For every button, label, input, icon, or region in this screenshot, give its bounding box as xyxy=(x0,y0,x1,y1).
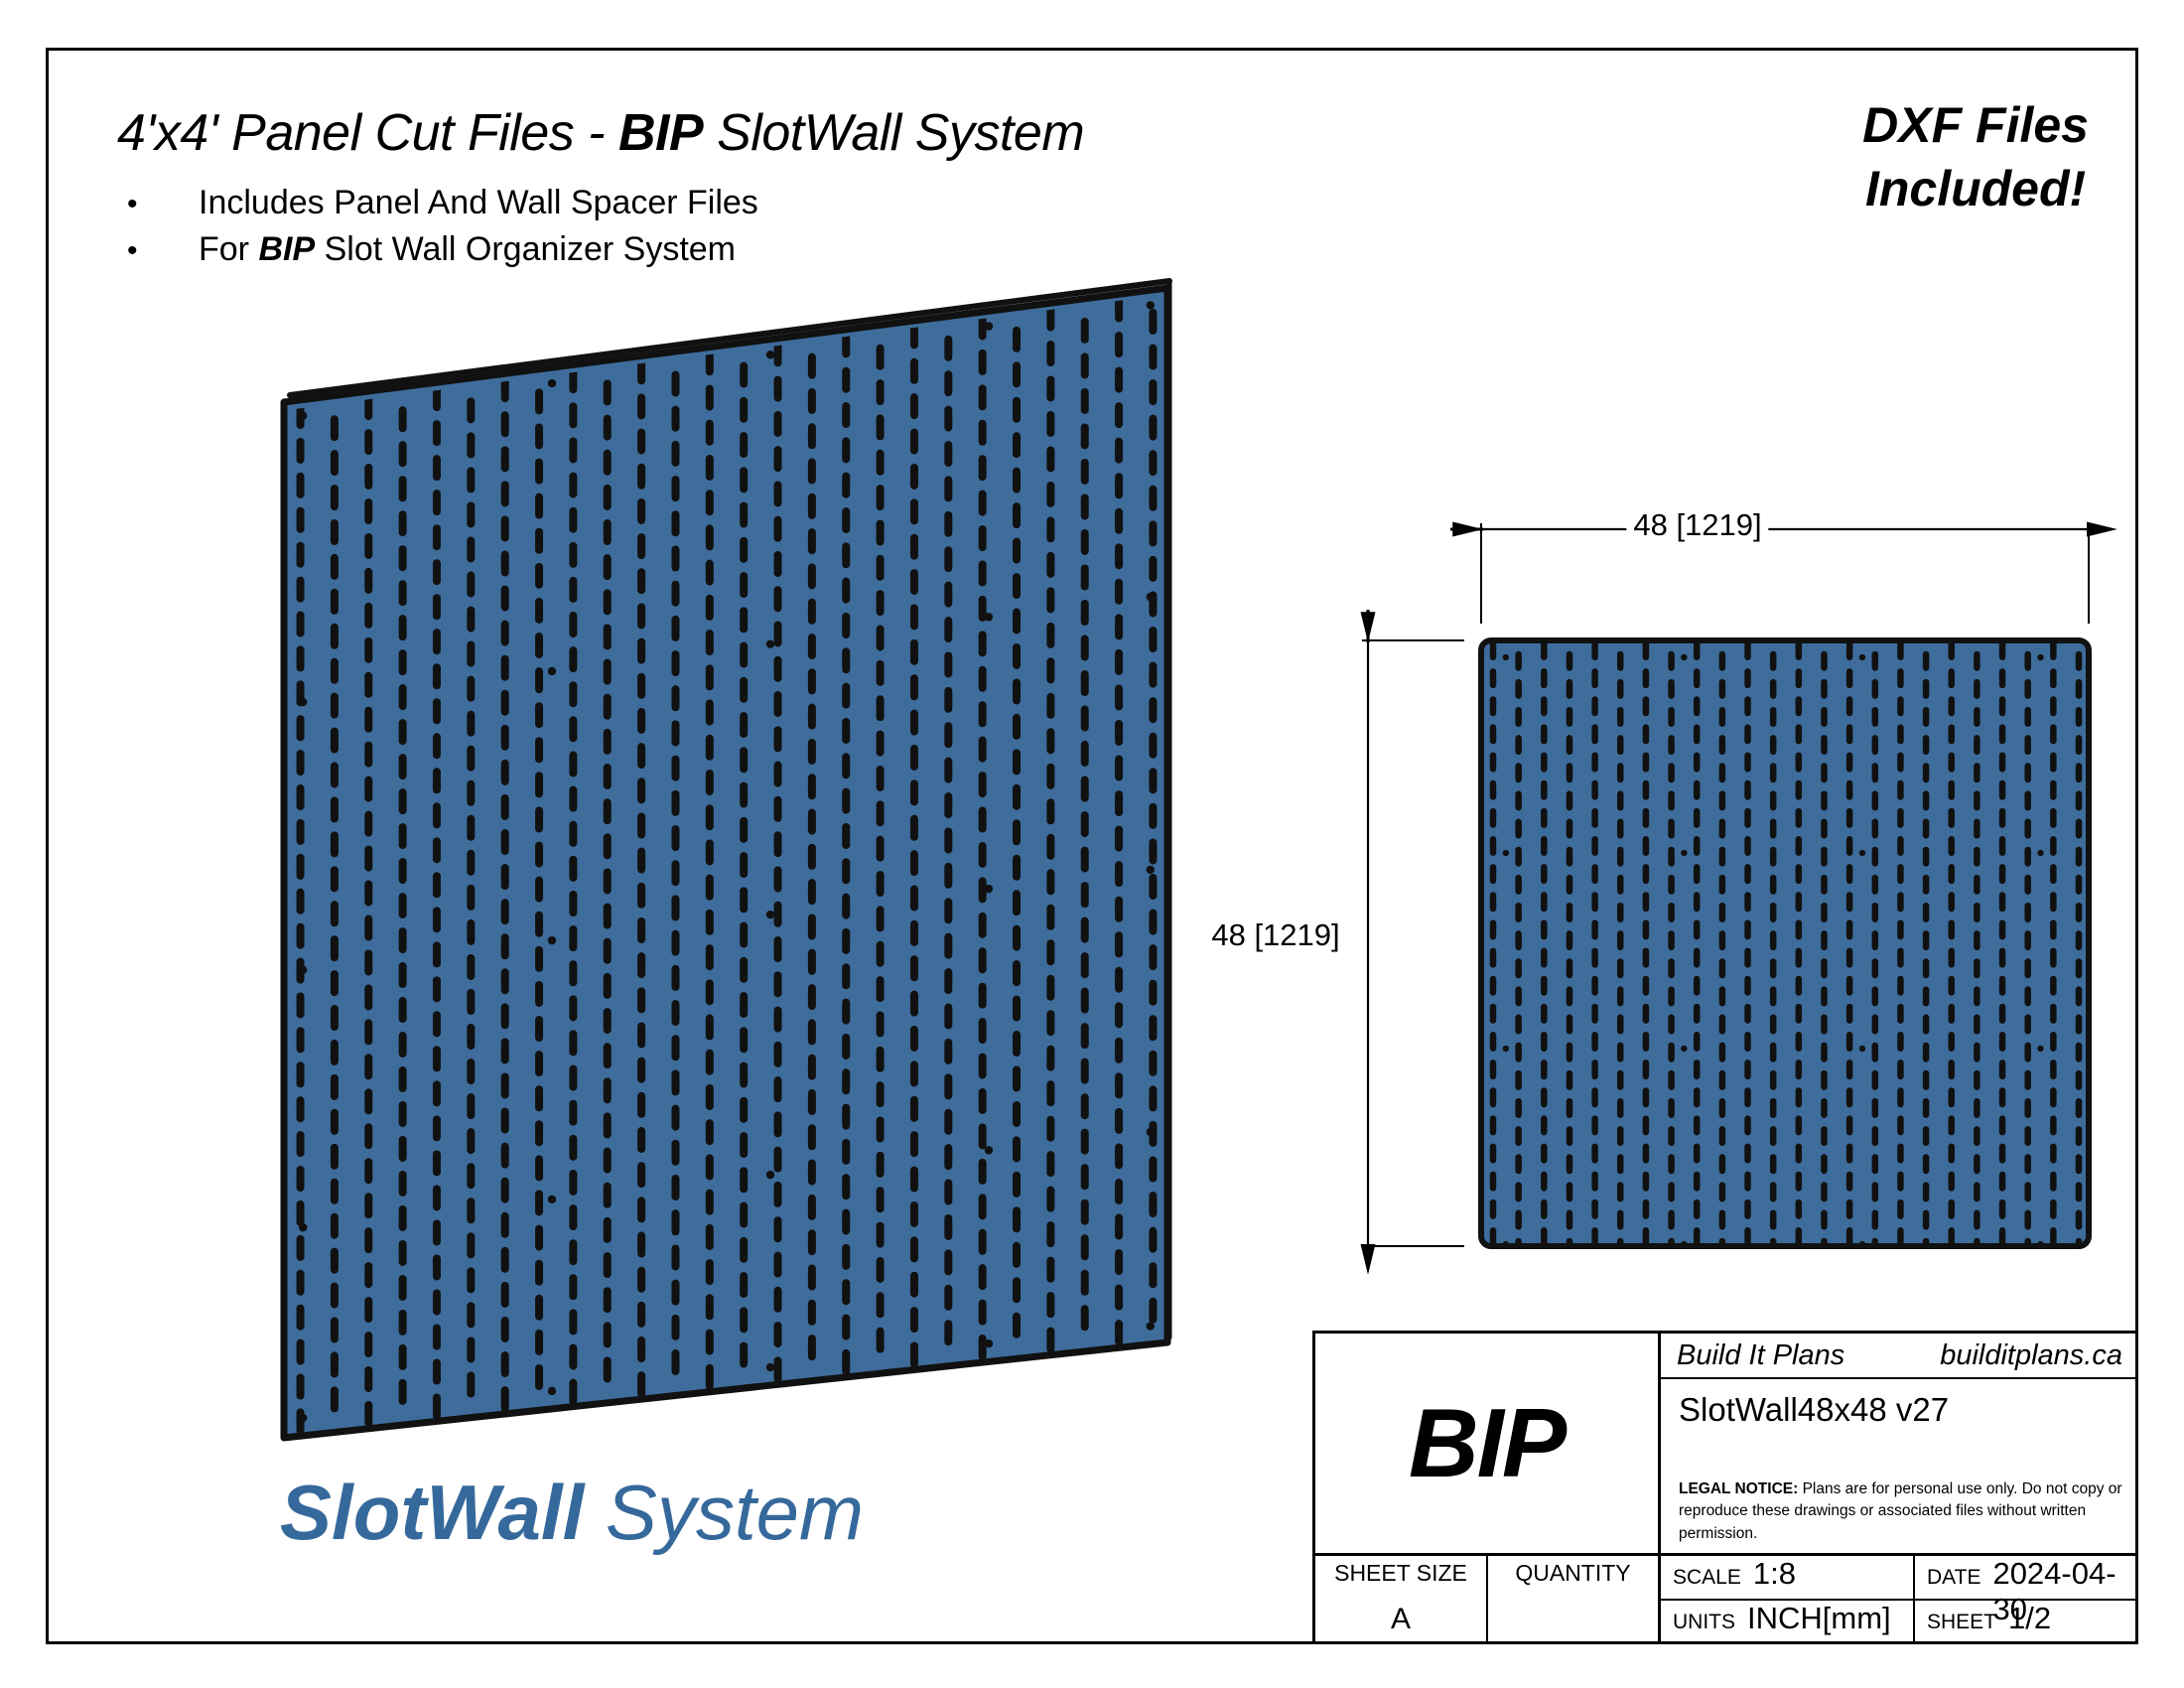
units-label: UNITS xyxy=(1673,1611,1735,1634)
sheet-size-label: SHEET SIZE xyxy=(1334,1560,1467,1587)
quantity-label: QUANTITY xyxy=(1515,1560,1630,1587)
logo-regular-part: System xyxy=(584,1469,864,1556)
sheet-label: SHEET xyxy=(1927,1611,1996,1634)
drawing-sheet: 4'x4' Panel Cut Files - BIP SlotWall Sys… xyxy=(0,0,2184,1688)
list-item-label: For BIP Slot Wall Organizer System xyxy=(199,230,736,269)
scale-label: SCALE xyxy=(1673,1566,1741,1590)
page-title-brand: BIP xyxy=(618,104,703,162)
bip-logo: BIP xyxy=(1409,1387,1565,1499)
title-block-company-cell: Build It Plans builditplans.ca xyxy=(1661,1334,2138,1379)
part-name: SlotWall48x48 v27 xyxy=(1679,1391,2120,1429)
units-cell: UNITS INCH[mm] xyxy=(1661,1601,1915,1644)
date-cell: DATE 2024-04-30 xyxy=(1915,1556,2138,1601)
units-value: INCH[mm] xyxy=(1747,1601,1891,1636)
promo-banner: DXF Files Included! xyxy=(1862,93,2089,220)
dimension-width-label: 48 [1219] xyxy=(1626,507,1768,543)
list-item: • Includes Panel And Wall Spacer Files xyxy=(127,184,1219,222)
quantity-cell: QUANTITY xyxy=(1488,1556,1661,1644)
date-label: DATE xyxy=(1927,1566,1980,1590)
sheet-value: 1/2 xyxy=(2008,1601,2051,1636)
logo-bold-part: SlotWall xyxy=(280,1469,584,1556)
sheet-size-value: A xyxy=(1391,1603,1411,1636)
company-name: Build It Plans xyxy=(1677,1339,1844,1372)
promo-line-2: Included! xyxy=(1862,157,2089,220)
page-title-pre: 4'x4' Panel Cut Files - xyxy=(117,104,618,162)
page-title-post: SlotWall System xyxy=(703,104,1084,162)
legal-notice-heading: LEGAL NOTICE: xyxy=(1679,1480,1798,1497)
list-item: • For BIP Slot Wall Organizer System xyxy=(127,230,1219,269)
sheet-number-cell: SHEET 1/2 xyxy=(1915,1601,2138,1644)
bullet-point-icon: • xyxy=(127,190,199,219)
legal-notice: LEGAL NOTICE: Plans are for personal use… xyxy=(1679,1478,2126,1545)
scale-value: 1:8 xyxy=(1753,1556,1796,1592)
title-block: BIP Build It Plans builditplans.ca SlotW… xyxy=(1312,1331,2138,1644)
promo-line-1: DXF Files xyxy=(1862,93,2089,157)
scale-cell: SCALE 1:8 xyxy=(1661,1556,1915,1601)
list-item-label: Includes Panel And Wall Spacer Files xyxy=(199,184,758,222)
title-block-partname-cell: SlotWall48x48 v27 LEGAL NOTICE: Plans ar… xyxy=(1661,1379,2138,1556)
title-block-logo-cell: BIP xyxy=(1315,1334,1661,1556)
bullet-point-icon: • xyxy=(127,236,199,266)
slotwall-system-logo: SlotWall System xyxy=(280,1468,864,1558)
company-website: builditplans.ca xyxy=(1940,1339,2122,1372)
sheet-size-cell: SHEET SIZE A xyxy=(1315,1556,1488,1644)
feature-bullet-list: • Includes Panel And Wall Spacer Files •… xyxy=(127,184,1219,277)
dimension-height-label: 48 [1219] xyxy=(1204,917,1346,953)
page-title: 4'x4' Panel Cut Files - BIP SlotWall Sys… xyxy=(117,103,1084,163)
